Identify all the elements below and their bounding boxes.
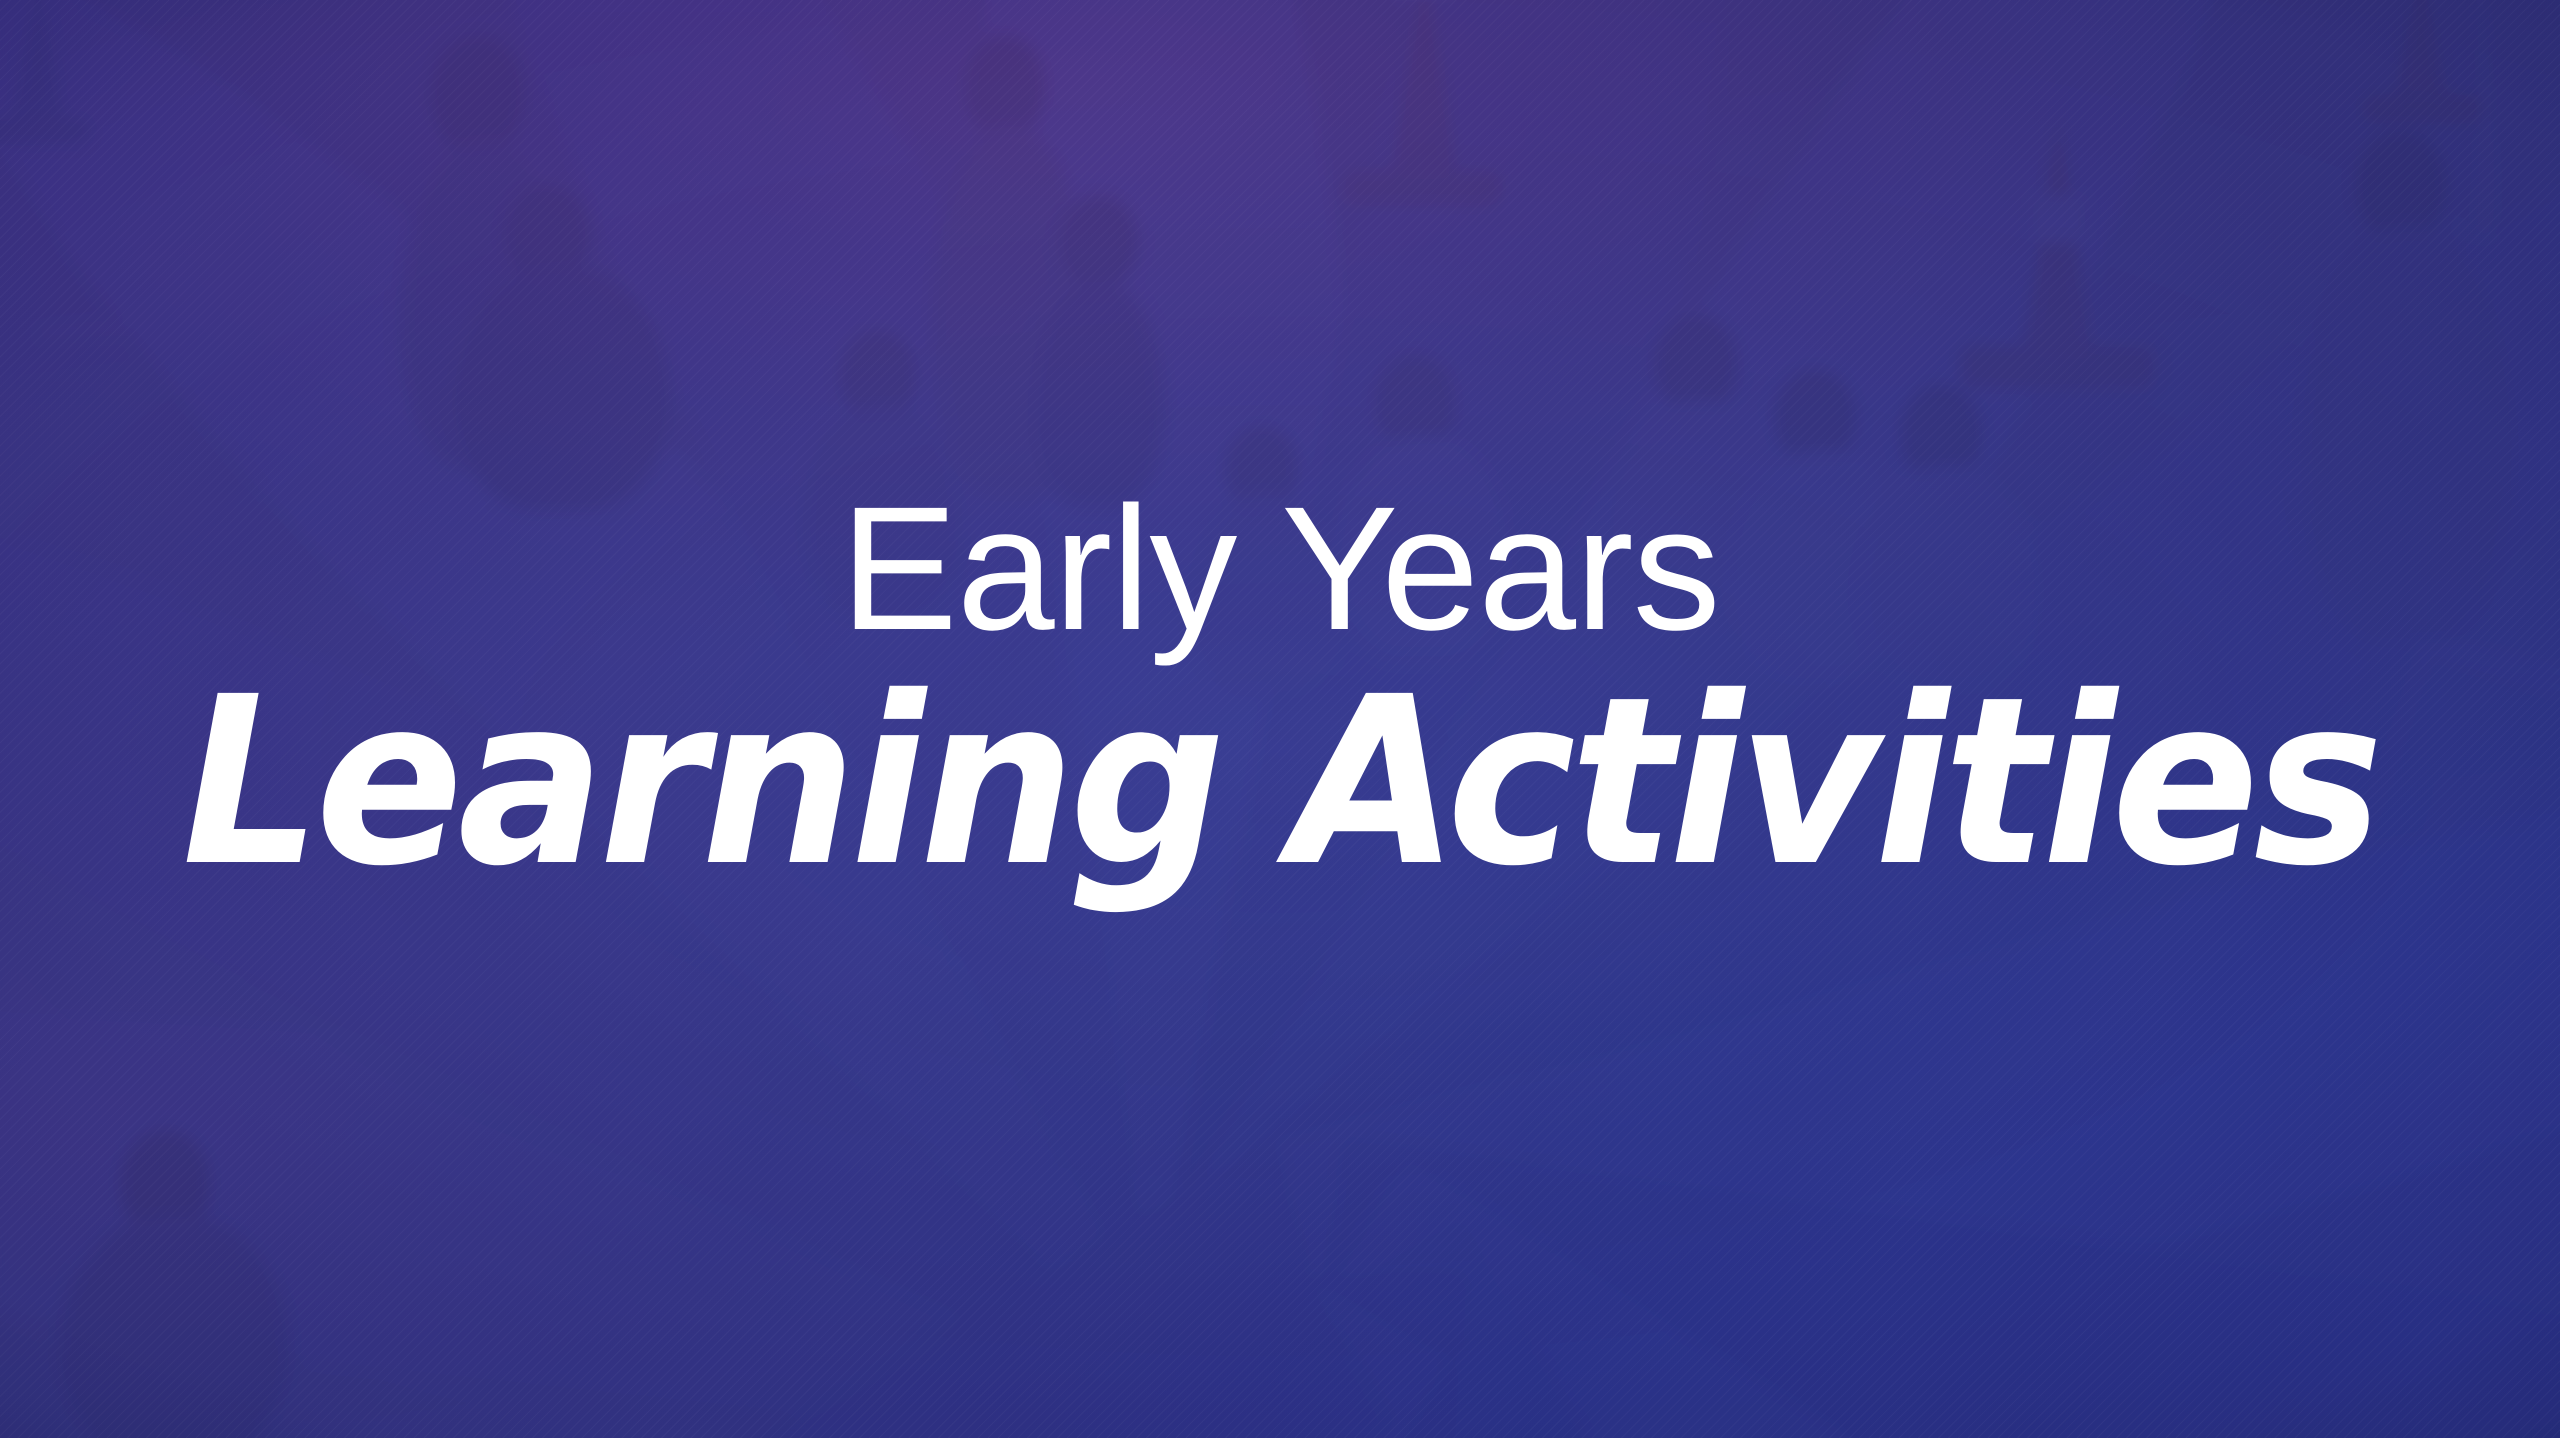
title-block: Early Years Learning Activities xyxy=(0,0,2560,1438)
page-title-primary: Early Years xyxy=(840,480,1719,660)
hero-slide: Early Years Learning Activities xyxy=(0,0,2560,1438)
page-title-script: Learning Activities xyxy=(182,666,2378,898)
